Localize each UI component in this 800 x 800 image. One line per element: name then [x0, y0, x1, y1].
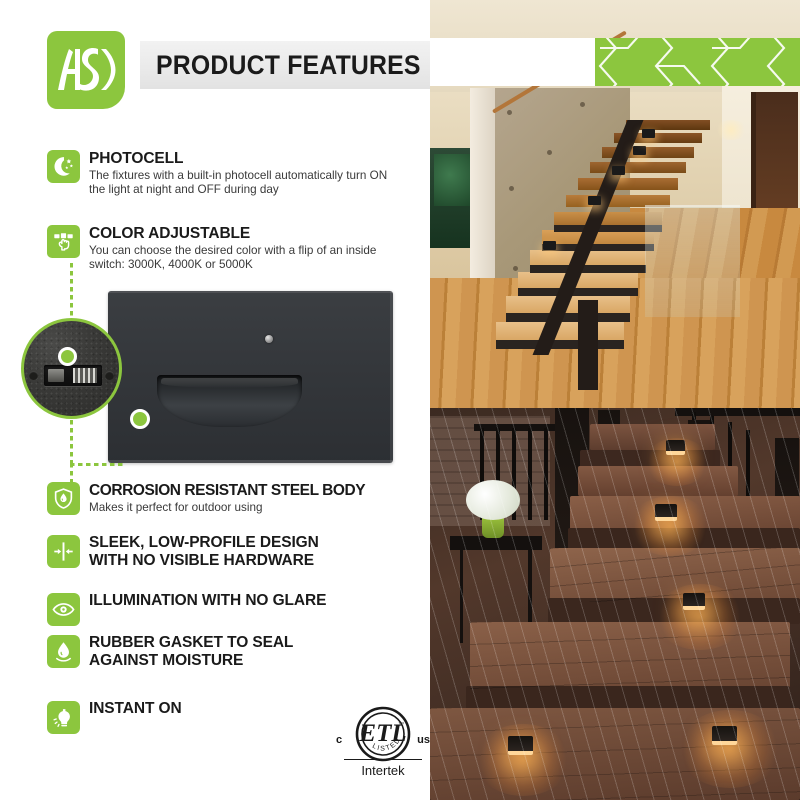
etl-prefix: c [336, 734, 342, 746]
asd-logo [47, 31, 125, 109]
feature-heading: INSTANT ON [89, 700, 182, 717]
connector-line [70, 463, 126, 466]
page-title: PRODUCT FEATURES [156, 50, 421, 81]
stair-riser [506, 313, 630, 322]
moon-stars-icon [47, 150, 80, 183]
light-bulb-glyph [52, 706, 75, 729]
stair-riser [496, 340, 624, 349]
shield-droplet-glyph [52, 487, 75, 510]
water-droplet-icon [47, 635, 80, 668]
etl-seal-icon: ETL ™ LISTED [354, 706, 412, 762]
ceiling-downlight [714, 120, 748, 140]
feature-heading-line1: SLEEK, LOW-PROFILE DESIGN [89, 534, 319, 551]
eye-glyph [52, 598, 75, 621]
feature-text: SLEEK, LOW-PROFILE DESIGN WITH NO VISIBL… [89, 534, 319, 569]
light-louver [157, 375, 302, 427]
callout-marker-dot [58, 347, 77, 366]
step-light [588, 196, 601, 205]
feature-body: The fixtures with a built-in photocell a… [89, 169, 399, 198]
feature-low-profile: SLEEK, LOW-PROFILE DESIGN WITH NO VISIBL… [47, 534, 319, 569]
content-column: PRODUCT FEATURES PHOTOCELL The fixtures … [0, 0, 430, 800]
arrows-to-line-glyph [52, 540, 75, 563]
callout-anchor-dot [130, 409, 150, 429]
feature-heading: PHOTOCELL [89, 150, 183, 167]
stair-tread [578, 178, 678, 190]
page-title-bar: PRODUCT FEATURES [140, 41, 430, 89]
feature-color-adjustable: COLOR ADJUSTABLE You can choose the desi… [47, 225, 399, 273]
rain-overlay [430, 408, 800, 800]
connector-line [70, 420, 73, 464]
feature-heading: CORROSION RESISTANT STEEL BODY [89, 482, 365, 499]
svg-text:™: ™ [398, 721, 404, 728]
dip-switch [44, 365, 102, 386]
feature-text: ILLUMINATION WITH NO GLARE [89, 592, 326, 610]
step-light [543, 241, 556, 250]
feature-heading: ILLUMINATION WITH NO GLARE [89, 592, 326, 609]
eye-icon [47, 593, 80, 626]
feature-corrosion-resistant: CORROSION RESISTANT STEEL BODY Makes it … [47, 482, 399, 515]
step-light-faceplate [108, 291, 393, 463]
etl-certification-mark: c us ETL ™ LISTED Intertek [336, 706, 430, 780]
feature-text: CORROSION RESISTANT STEEL BODY Makes it … [89, 482, 399, 515]
feature-heading: COLOR ADJUSTABLE [89, 225, 250, 242]
mounting-screw [265, 335, 273, 343]
stair-tread [590, 162, 686, 173]
feature-heading-line1: RUBBER GASKET TO SEAL [89, 634, 293, 651]
color-switch-hand-icon [47, 225, 80, 258]
stair-riser [518, 288, 638, 296]
light-bulb-icon [47, 701, 80, 734]
feature-photocell: PHOTOCELL The fixtures with a built-in p… [47, 150, 399, 198]
feature-heading-line2: WITH NO VISIBLE HARDWARE [89, 552, 319, 569]
feature-body: Makes it perfect for outdoor using [89, 501, 399, 515]
feature-text: PHOTOCELL The fixtures with a built-in p… [89, 150, 399, 198]
glass-railing [645, 205, 740, 317]
feature-text: RUBBER GASKET TO SEAL AGAINST MOISTURE [89, 634, 293, 669]
shield-droplet-icon [47, 482, 80, 515]
feature-rubber-gasket: RUBBER GASKET TO SEAL AGAINST MOISTURE [47, 634, 293, 669]
outdoor-deck-night-photo [430, 408, 800, 800]
connector-line [70, 263, 73, 321]
feature-no-glare: ILLUMINATION WITH NO GLARE [47, 592, 326, 626]
product-features-infographic: PRODUCT FEATURES PHOTOCELL The fixtures … [0, 0, 800, 800]
photo-column [430, 0, 800, 800]
stair-stringer-base [578, 300, 598, 390]
water-droplet-glyph [52, 640, 75, 663]
asd-logo-icon [55, 45, 117, 95]
feature-instant-on: INSTANT ON [47, 700, 182, 734]
feature-body: You can choose the desired color with a … [89, 244, 399, 273]
arrows-to-line-icon [47, 535, 80, 568]
stair-riser [542, 244, 654, 251]
color-switch-hand-glyph [52, 230, 75, 253]
stair-riser [530, 265, 646, 273]
feature-text: COLOR ADJUSTABLE You can choose the desi… [89, 225, 399, 273]
feature-text: INSTANT ON [89, 700, 182, 718]
step-light [612, 166, 625, 175]
feature-heading-line2: AGAINST MOISTURE [89, 652, 293, 669]
dip-switch-closeup [21, 318, 122, 419]
step-light [633, 146, 646, 155]
etl-suffix: us [417, 734, 430, 746]
step-light [642, 129, 655, 138]
moon-stars-glyph [52, 155, 75, 178]
